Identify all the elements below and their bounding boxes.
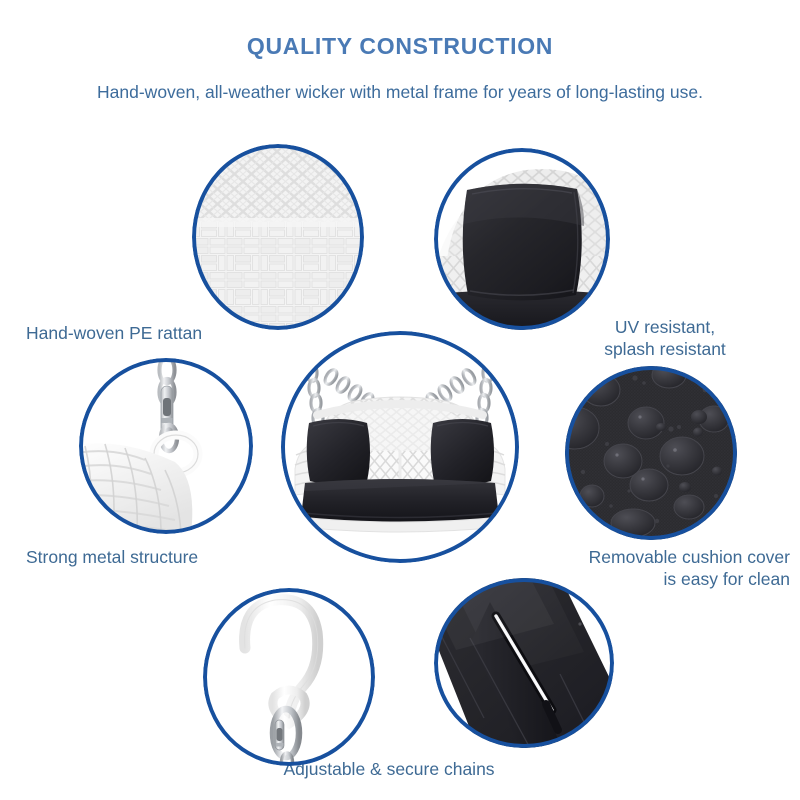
page-title: QUALITY CONSTRUCTION xyxy=(0,33,800,60)
page-subtitle: Hand-woven, all-weather wicker with meta… xyxy=(0,82,800,103)
feature-label-adjustable-secure-chains: Adjustable & secure chains xyxy=(189,758,589,780)
feature-label-uv-splash-resistant: UV resistant, splash resistant xyxy=(540,316,790,361)
feature-image-strong-metal-structure xyxy=(79,358,253,534)
feature-label-strong-metal-structure: Strong metal structure xyxy=(26,546,286,568)
black-pillow-image xyxy=(434,148,610,330)
water-droplets-image xyxy=(565,366,737,540)
feature-image-porch-swing-overview xyxy=(281,331,519,563)
feature-image-adjustable-secure-chains xyxy=(203,588,375,766)
porch-swing-image xyxy=(281,331,519,563)
wicker-texture-image xyxy=(192,144,364,330)
feature-image-removable-cushion-cover xyxy=(565,366,737,540)
feature-image-hand-woven-pe-rattan xyxy=(192,144,364,330)
feature-label-hand-woven-pe-rattan: Hand-woven PE rattan xyxy=(26,322,276,344)
s-hook-carabiner-image xyxy=(203,588,375,766)
cushion-zipper-image xyxy=(434,578,614,748)
metal-carabiner-image xyxy=(79,358,253,534)
feature-image-uv-splash-resistant xyxy=(434,148,610,330)
header: QUALITY CONSTRUCTION Hand-woven, all-wea… xyxy=(0,0,800,103)
feature-image-cushion-zipper xyxy=(434,578,614,748)
